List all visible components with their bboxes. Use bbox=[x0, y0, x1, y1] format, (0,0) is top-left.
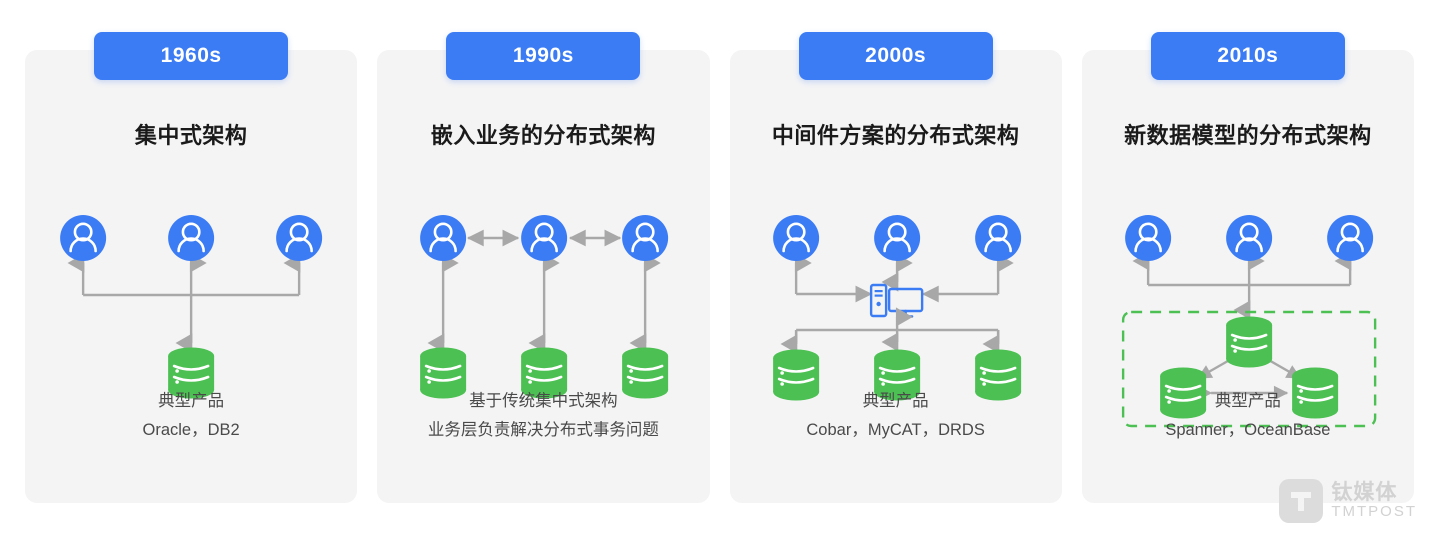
watermark-name-cn: 钛媒体 bbox=[1331, 482, 1417, 504]
user-icon bbox=[1226, 215, 1272, 261]
era-badge-1960s: 1960s bbox=[94, 32, 288, 80]
panel-title-2000s: 中间件方案的分布式架构 bbox=[730, 118, 1062, 150]
caption-line: Cobar，MyCAT，DRDS bbox=[730, 416, 1062, 445]
panel-2010s: 2010s 新数据模型的分布式架构 bbox=[1082, 50, 1414, 503]
user-icon bbox=[168, 215, 214, 261]
user-icon bbox=[874, 215, 920, 261]
panel-1960s: 1960s 集中式架构 bbox=[25, 50, 357, 503]
caption-line: 典型产品 bbox=[25, 387, 357, 416]
panel-1990s: 1990s 嵌入业务的分布式架构 bbox=[377, 50, 709, 503]
database-icon bbox=[1226, 317, 1272, 368]
caption-2010s: 典型产品 Spanner，OceanBase bbox=[1082, 387, 1414, 445]
era-badge-2010s: 2010s bbox=[1151, 32, 1345, 80]
era-badge-1990s: 1990s bbox=[446, 32, 640, 80]
user-icon bbox=[1327, 215, 1373, 261]
user-icon bbox=[622, 215, 668, 261]
caption-2000s: 典型产品 Cobar，MyCAT，DRDS bbox=[730, 387, 1062, 445]
user-icon bbox=[1125, 215, 1171, 261]
computer-icon bbox=[871, 285, 922, 317]
caption-line: Oracle，DB2 bbox=[25, 416, 357, 445]
caption-line: 基于传统集中式架构 bbox=[377, 387, 709, 416]
watermark: 钛媒体 TMTPOST bbox=[1279, 479, 1417, 523]
panel-title-1960s: 集中式架构 bbox=[25, 118, 357, 150]
user-icon bbox=[276, 215, 322, 261]
user-icon bbox=[773, 215, 819, 261]
architecture-evolution-board: 1960s 集中式架构 bbox=[0, 0, 1439, 537]
user-icon bbox=[420, 215, 466, 261]
caption-line: Spanner，OceanBase bbox=[1082, 416, 1414, 445]
caption-1990s: 基于传统集中式架构 业务层负责解决分布式事务问题 bbox=[377, 387, 709, 445]
user-icon bbox=[975, 215, 1021, 261]
watermark-name-en: TMTPOST bbox=[1331, 504, 1417, 520]
caption-line: 典型产品 bbox=[730, 387, 1062, 416]
panel-title-1990s: 嵌入业务的分布式架构 bbox=[377, 118, 709, 150]
panel-title-2010s: 新数据模型的分布式架构 bbox=[1082, 118, 1414, 150]
panel-2000s: 2000s 中间件方案的分布式架构 bbox=[730, 50, 1062, 503]
caption-line: 典型产品 bbox=[1082, 387, 1414, 416]
watermark-text: 钛媒体 TMTPOST bbox=[1331, 482, 1417, 520]
user-icon bbox=[521, 215, 567, 261]
user-icon bbox=[60, 215, 106, 261]
caption-line: 业务层负责解决分布式事务问题 bbox=[377, 416, 709, 445]
tmtpost-logo-icon bbox=[1279, 479, 1323, 523]
era-badge-2000s: 2000s bbox=[799, 32, 993, 80]
caption-1960s: 典型产品 Oracle，DB2 bbox=[25, 387, 357, 445]
